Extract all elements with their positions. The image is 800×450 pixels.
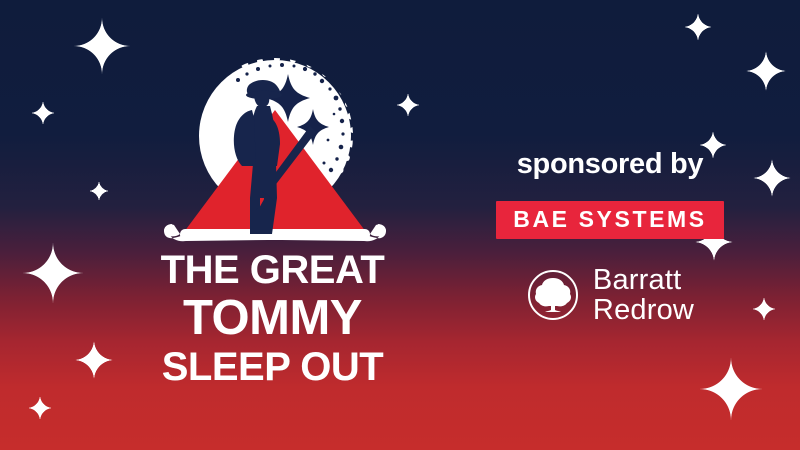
star-decoration bbox=[745, 50, 787, 92]
sponsored-by-heading: sponsored by bbox=[420, 148, 800, 181]
barratt-redrow-wordmark: Barratt Redrow bbox=[593, 265, 694, 325]
star-decoration bbox=[683, 12, 713, 42]
star-decoration bbox=[88, 180, 110, 202]
bae-systems-logo-text: BAE SYSTEMS bbox=[513, 208, 706, 231]
star-decoration bbox=[30, 100, 56, 126]
tree-in-circle-icon bbox=[526, 268, 580, 322]
sponsor-block: sponsored by BAE SYSTEMS Barratt Redrow bbox=[420, 148, 800, 325]
star-decoration bbox=[700, 358, 762, 420]
bae-systems-logo: BAE SYSTEMS bbox=[496, 201, 723, 239]
soldier-tent-moon-illustration bbox=[150, 48, 400, 253]
barratt-wordmark-line1: Barratt bbox=[593, 265, 694, 295]
star-decoration bbox=[27, 395, 53, 421]
barratt-redrow-logo: Barratt Redrow bbox=[420, 265, 800, 325]
star-decoration bbox=[74, 18, 130, 74]
title-line-sleep-out: SLEEP OUT bbox=[0, 347, 545, 387]
barratt-wordmark-line2: Redrow bbox=[593, 295, 694, 325]
poster-canvas: THE GREAT TOMMY SLEEP OUT sponsored by B… bbox=[0, 0, 800, 450]
